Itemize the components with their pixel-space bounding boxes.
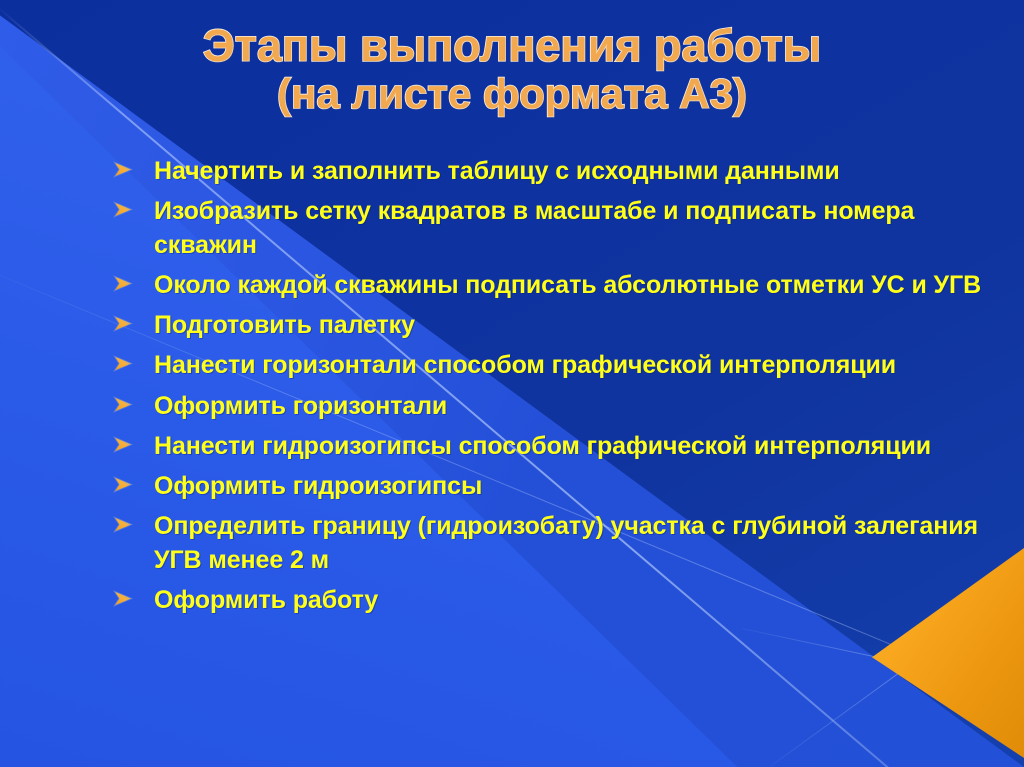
chevron-arrow-bullet-icon <box>112 470 154 495</box>
list-item: Нанести гидроизогипсы способом графическ… <box>112 430 992 463</box>
list-item: Оформить работу <box>112 584 992 617</box>
slide-title-line-1: Этапы выполнения работы <box>0 22 1024 70</box>
slide-title: Этапы выполнения работы (на листе формат… <box>0 22 1024 116</box>
chevron-arrow-bullet-icon <box>112 195 154 220</box>
bullet-list: Начертить и заполнить таблицу с исходным… <box>112 155 992 624</box>
slide-title-line-2: (на листе формата А3) <box>0 72 1024 117</box>
list-item: Оформить гидроизогипсы <box>112 470 992 503</box>
list-item-label: Оформить гидроизогипсы <box>154 470 992 503</box>
list-item-label: Начертить и заполнить таблицу с исходным… <box>154 155 992 188</box>
list-item: Подготовить палетку <box>112 309 992 342</box>
list-item: Оформить горизонтали <box>112 390 992 423</box>
list-item-label: Около каждой скважины подписать абсолютн… <box>154 269 992 302</box>
chevron-arrow-bullet-icon <box>112 584 154 609</box>
chevron-arrow-bullet-icon <box>112 349 154 374</box>
list-item-label: Подготовить палетку <box>154 309 992 342</box>
chevron-arrow-bullet-icon <box>112 309 154 334</box>
list-item: Изобразить сетку квадратов в масштабе и … <box>112 195 992 262</box>
chevron-arrow-bullet-icon <box>112 269 154 294</box>
list-item-label: Определить границу (гидроизобату) участк… <box>154 510 992 577</box>
list-item: Начертить и заполнить таблицу с исходным… <box>112 155 992 188</box>
list-item: Определить границу (гидроизобату) участк… <box>112 510 992 577</box>
chevron-arrow-bullet-icon <box>112 510 154 535</box>
list-item: Нанести горизонтали способом графической… <box>112 349 992 382</box>
presentation-slide: Этапы выполнения работы (на листе формат… <box>0 0 1024 767</box>
chevron-arrow-bullet-icon <box>112 430 154 455</box>
list-item-label: Оформить работу <box>154 584 992 617</box>
chevron-arrow-bullet-icon <box>112 155 154 180</box>
list-item-label: Нанести горизонтали способом графической… <box>154 349 992 382</box>
list-item-label: Нанести гидроизогипсы способом графическ… <box>154 430 992 463</box>
list-item-label: Оформить горизонтали <box>154 390 992 423</box>
chevron-arrow-bullet-icon <box>112 390 154 415</box>
list-item-label: Изобразить сетку квадратов в масштабе и … <box>154 195 992 262</box>
list-item: Около каждой скважины подписать абсолютн… <box>112 269 992 302</box>
